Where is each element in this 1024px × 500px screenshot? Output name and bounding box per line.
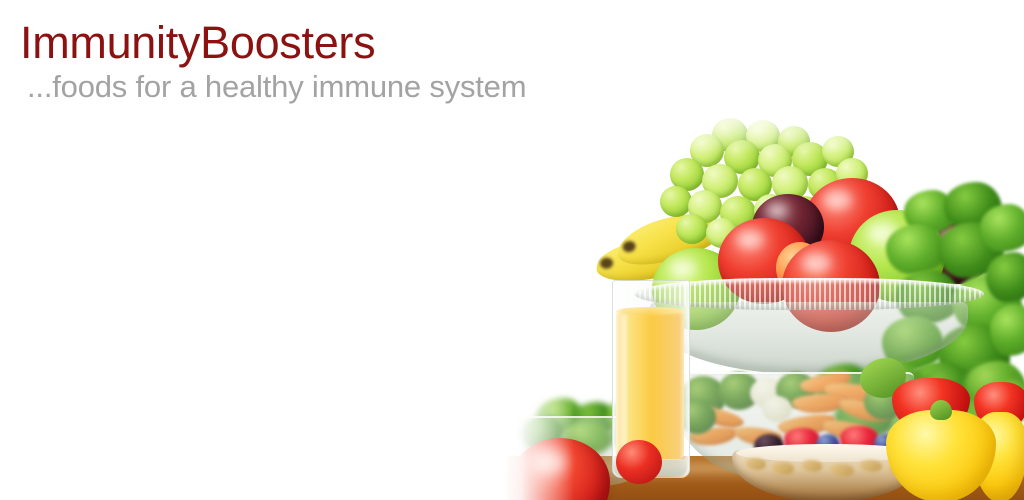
page-title: ImmunityBoosters [20,18,526,68]
feature-graphic-banner: ImmunityBoosters ...foods for a healthy … [0,0,1024,500]
hero-food-photo [504,110,1024,500]
cherry-tomato [616,440,662,484]
title-block: ImmunityBoosters ...foods for a healthy … [0,0,526,106]
page-subtitle: ...foods for a healthy immune system [20,68,526,106]
